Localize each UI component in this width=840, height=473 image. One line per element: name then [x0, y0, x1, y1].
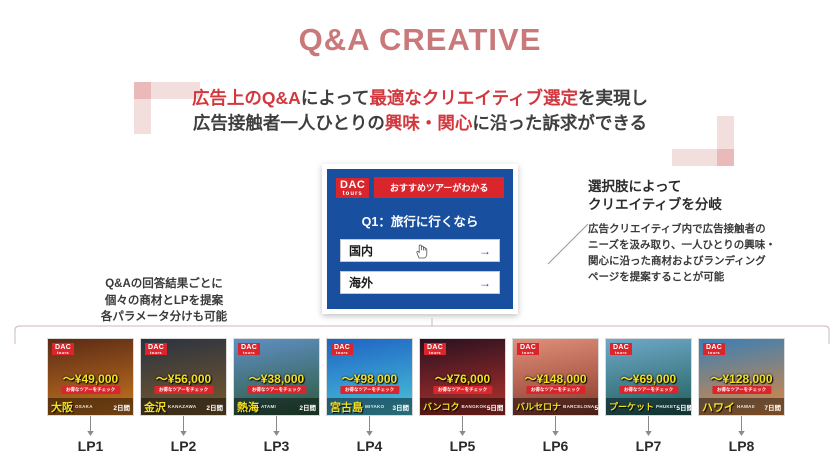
- lp-label: LP7: [605, 438, 692, 454]
- lp-city-name: ハワイ: [702, 399, 735, 415]
- body-line-2: ニーズを汲み取り、一人ひとりの興味・: [588, 238, 832, 254]
- lp-footer: 金沢KANAZAWA2日間: [141, 398, 226, 415]
- leader-line: [546, 222, 590, 266]
- lp-card[interactable]: DACtours～¥56,000お得なツアーをチェック金沢KANAZAWA2日間: [140, 338, 227, 416]
- arrow-down-icon: [87, 431, 93, 436]
- lp-city-roman: PHUKET: [656, 404, 676, 409]
- dac-tours-logo: DACtours: [238, 343, 260, 355]
- lp-duration: 5日間: [676, 402, 692, 412]
- option-label: 国内: [349, 242, 373, 259]
- subtitle-highlight: 広告上のQ&A: [192, 88, 301, 108]
- subtitle-highlight: 興味・関心: [385, 113, 473, 133]
- lp-label: LP4: [326, 438, 413, 454]
- dac-tours-logo: DACtours: [145, 343, 167, 355]
- lp-price: ～¥38,000: [234, 370, 319, 387]
- logo-sub-text: tours: [520, 351, 536, 355]
- lp-card-row: DACtours～¥49,000お得なツアーをチェック大阪OSAKA2日間DAC…: [47, 338, 795, 416]
- lp-city-name: 金沢: [144, 399, 166, 415]
- lp-duration: 2日間: [113, 402, 130, 412]
- logo-main-text: DAC: [340, 180, 365, 191]
- arrow-down-icon: [552, 431, 558, 436]
- subtitle-plain: によって: [301, 88, 370, 108]
- lp-promo-tag: お得なツアーをチェック: [154, 386, 213, 394]
- subtitle-plain: を実現し: [578, 88, 648, 108]
- right-annotation: 選択肢によって クリエイティブを分岐 広告クリエイティブ内で広告接触者の ニーズ…: [588, 178, 832, 285]
- body-line-4: ページを提案することが可能: [588, 270, 832, 286]
- deco-corner-block: [717, 149, 734, 166]
- subtitle: 広告上のQ&Aによって最適なクリエイティブ選定を実現し 広告接触者一人ひとりの興…: [0, 86, 840, 137]
- lp-city-roman: OSAKA: [75, 404, 93, 409]
- lp-footer: バルセロナBARCELONA5日間: [513, 398, 598, 415]
- left-annotation-line-1: Q&Aの回答結果ごとに: [72, 276, 256, 293]
- lp-city-name: バンコク: [423, 400, 459, 413]
- arrow-down-icon: [273, 431, 279, 436]
- heading-line-1: 選択肢によって: [588, 178, 832, 196]
- right-annotation-body: 広告クリエイティブ内で広告接触者の ニーズを汲み取り、一人ひとりの興味・ 関心に…: [588, 222, 832, 285]
- promo-banner: おすすめツアーがわかる: [374, 177, 504, 198]
- lp-footer: ハワイHAWAII7日間: [699, 398, 784, 415]
- lp-label: LP5: [419, 438, 506, 454]
- lp-promo-tag: お得なツアーをチェック: [619, 386, 678, 394]
- lp-footer: プーケットPHUKET5日間: [606, 398, 691, 415]
- logo-sub-text: tours: [148, 351, 164, 355]
- logo-sub-text: tours: [427, 351, 443, 355]
- lp-price: ～¥56,000: [141, 370, 226, 387]
- arrow-right-icon: →: [479, 244, 491, 258]
- lp-price: ～¥76,000: [420, 370, 505, 387]
- lp-city-roman: MIYAKO: [365, 404, 384, 409]
- lp-price: ～¥49,000: [48, 370, 133, 387]
- lp-label: LP3: [233, 438, 320, 454]
- logo-sub-text: tours: [613, 351, 629, 355]
- right-annotation-heading: 選択肢によって クリエイティブを分岐: [588, 178, 832, 214]
- lp-city-name: バルセロナ: [516, 400, 561, 413]
- hand-cursor-icon: [415, 244, 428, 259]
- lp-duration: 5日間: [594, 402, 599, 412]
- option-label: 海外: [349, 274, 373, 291]
- logo-sub-text: tours: [706, 351, 722, 355]
- logo-sub-text: tours: [340, 191, 365, 197]
- left-annotation-line-2: 個々の商材とLPを提案: [72, 293, 256, 310]
- lp-label: LP2: [140, 438, 227, 454]
- lp-duration: 5日間: [487, 402, 504, 412]
- lp-label: LP8: [698, 438, 785, 454]
- lp-city-name: プーケット: [609, 400, 654, 413]
- lp-label-row: LP1LP2LP3LP4LP5LP6LP7LP8: [47, 438, 795, 454]
- lp-city-name: 宮古島: [330, 399, 363, 415]
- arrow-down-icon: [645, 431, 651, 436]
- lp-promo-tag: お得なツアーをチェック: [61, 386, 120, 394]
- arrow-down-icon: [180, 431, 186, 436]
- lp-card[interactable]: DACtours～¥49,000お得なツアーをチェック大阪OSAKA2日間: [47, 338, 134, 416]
- lp-city-roman: BARCELONA: [563, 404, 594, 409]
- dac-tours-logo: DACtours: [331, 343, 353, 355]
- lp-price: ～¥148,000: [513, 370, 598, 387]
- arrow-right-icon: →: [479, 276, 491, 290]
- question-card: DAC tours おすすめツアーがわかる Q1：旅行に行くなら 国内 → 海外…: [322, 164, 518, 314]
- lp-card[interactable]: DACtours～¥38,000お得なツアーをチェック熱海ATAMI2日間: [233, 338, 320, 416]
- lp-promo-tag: お得なツアーをチェック: [526, 386, 585, 394]
- subtitle-line-1: 広告上のQ&Aによって最適なクリエイティブ選定を実現し: [0, 86, 840, 111]
- lp-duration: 7日間: [764, 402, 781, 412]
- dac-tours-logo: DAC tours: [336, 178, 369, 198]
- answer-option-domestic[interactable]: 国内 →: [340, 239, 500, 262]
- subtitle-highlight: 最適なクリエイティブ選定: [369, 88, 578, 108]
- lp-footer: 熱海ATAMI2日間: [234, 398, 319, 415]
- lp-label: LP6: [512, 438, 599, 454]
- lp-duration: 2日間: [299, 402, 316, 412]
- question-text: Q1：旅行に行くなら: [336, 211, 504, 230]
- lp-arrow-row: [47, 416, 795, 440]
- lp-card[interactable]: DACtours～¥148,000お得なツアーをチェックバルセロナBARCELO…: [512, 338, 599, 416]
- dac-tours-logo: DACtours: [610, 343, 632, 355]
- lp-duration: 3日間: [392, 402, 409, 412]
- question-card-header: DAC tours おすすめツアーがわかる: [336, 177, 504, 198]
- lp-card[interactable]: DACtours～¥98,000お得なツアーをチェック宮古島MIYAKO3日間: [326, 338, 413, 416]
- lp-city-roman: BANGKOK: [461, 404, 486, 409]
- logo-sub-text: tours: [55, 351, 71, 355]
- answer-option-overseas[interactable]: 海外 →: [340, 271, 500, 294]
- subtitle-plain: に沿った訴求ができる: [472, 113, 647, 133]
- lp-card[interactable]: DACtours～¥128,000お得なツアーをチェックハワイHAWAII7日間: [698, 338, 785, 416]
- lp-footer: 大阪OSAKA2日間: [48, 398, 133, 415]
- lp-promo-tag: お得なツアーをチェック: [433, 386, 492, 394]
- lp-label: LP1: [47, 438, 134, 454]
- page-title: Q&A CREATIVE: [0, 22, 840, 58]
- lp-city-name: 大阪: [51, 399, 73, 415]
- lp-promo-tag: お得なツアーをチェック: [340, 386, 399, 394]
- subtitle-plain: 広告接触者一人ひとりの: [193, 113, 385, 133]
- lp-footer: 宮古島MIYAKO3日間: [327, 398, 412, 415]
- heading-line-2: クリエイティブを分岐: [588, 196, 832, 214]
- lp-promo-tag: お得なツアーをチェック: [247, 386, 306, 394]
- dac-tours-logo: DACtours: [703, 343, 725, 355]
- dac-tours-logo: DACtours: [52, 343, 74, 355]
- dac-tours-logo: DACtours: [517, 343, 539, 355]
- lp-city-roman: ATAMI: [261, 404, 276, 409]
- lp-city-roman: KANAZAWA: [168, 404, 196, 409]
- arrow-down-icon: [366, 431, 372, 436]
- lp-card[interactable]: DACtours～¥76,000お得なツアーをチェックバンコクBANGKOK5日…: [419, 338, 506, 416]
- lp-price: ～¥98,000: [327, 370, 412, 387]
- logo-sub-text: tours: [241, 351, 257, 355]
- lp-footer: バンコクBANGKOK5日間: [420, 398, 505, 415]
- lp-price: ～¥69,000: [606, 370, 691, 387]
- slide-canvas: Q&A CREATIVE 広告上のQ&Aによって最適なクリエイティブ選定を実現し…: [0, 0, 840, 473]
- subtitle-line-2: 広告接触者一人ひとりの興味・関心に沿った訴求ができる: [0, 111, 840, 136]
- dac-tours-logo: DACtours: [424, 343, 446, 355]
- arrow-down-icon: [459, 431, 465, 436]
- body-line-3: 関心に沿った商材およびランディング: [588, 254, 832, 270]
- body-line-1: 広告クリエイティブ内で広告接触者の: [588, 222, 832, 238]
- lp-city-name: 熱海: [237, 399, 259, 415]
- lp-price: ～¥128,000: [699, 370, 784, 387]
- lp-card[interactable]: DACtours～¥69,000お得なツアーをチェックプーケットPHUKET5日…: [605, 338, 692, 416]
- question-card-body: DAC tours おすすめツアーがわかる Q1：旅行に行くなら 国内 → 海外…: [327, 169, 513, 309]
- logo-sub-text: tours: [334, 351, 350, 355]
- arrow-down-icon: [738, 431, 744, 436]
- lp-city-roman: HAWAII: [737, 404, 755, 409]
- lp-promo-tag: お得なツアーをチェック: [712, 386, 771, 394]
- lp-duration: 2日間: [206, 402, 223, 412]
